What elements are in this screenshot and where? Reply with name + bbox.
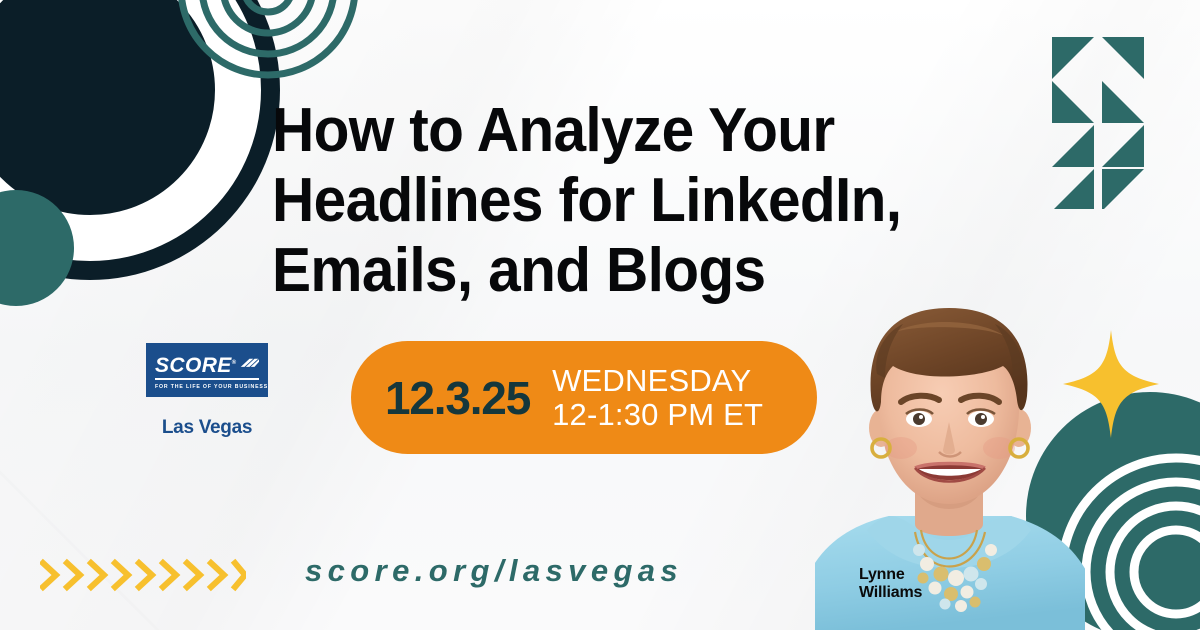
score-logo[interactable]: SCORE® FOR THE LIFE OF YOUR BUSINESS Las… xyxy=(146,343,268,439)
score-wordmark: SCORE® xyxy=(155,355,237,376)
score-logo-box: SCORE® FOR THE LIFE OF YOUR BUSINESS xyxy=(146,343,268,397)
teal-concentric-rings-shape xyxy=(168,0,368,98)
teal-circle-small-shape xyxy=(0,178,98,318)
title-line-2: Headlines for LinkedIn, xyxy=(272,166,934,236)
event-time: 12-1:30 PM ET xyxy=(552,398,763,431)
score-wordmark-text: SCORE xyxy=(155,354,232,377)
triangle-grid-pattern-shape xyxy=(1052,37,1144,209)
speaker-photo: Lynne Williams xyxy=(815,292,1085,630)
website-url[interactable]: score.org/lasvegas xyxy=(305,553,683,589)
event-day-of-week: WEDNESDAY xyxy=(552,364,763,397)
page-title: How to Analyze Your Headlines for Linked… xyxy=(272,96,934,306)
event-date-badge: 12.3.25 WEDNESDAY 12-1:30 PM ET xyxy=(351,341,817,454)
speaker-name-line-1: Lynne xyxy=(859,566,922,584)
title-line-1: How to Analyze Your xyxy=(272,96,934,166)
score-logo-row: SCORE® xyxy=(155,354,259,376)
score-logo-rule xyxy=(155,378,259,380)
event-schedule: WEDNESDAY 12-1:30 PM ET xyxy=(552,364,763,430)
score-chapter-name: Las Vegas xyxy=(146,417,268,439)
score-swoosh-icon xyxy=(237,354,259,376)
score-tagline: FOR THE LIFE OF YOUR BUSINESS xyxy=(155,384,259,390)
event-date: 12.3.25 xyxy=(385,375,530,421)
gold-chevron-arrows-icon xyxy=(40,558,246,592)
speaker-portrait-illustration xyxy=(815,292,1085,630)
speaker-name-line-2: Williams xyxy=(859,584,922,602)
speaker-name: Lynne Williams xyxy=(859,566,922,602)
event-promo-banner: How to Analyze Your Headlines for Linked… xyxy=(0,0,1200,630)
